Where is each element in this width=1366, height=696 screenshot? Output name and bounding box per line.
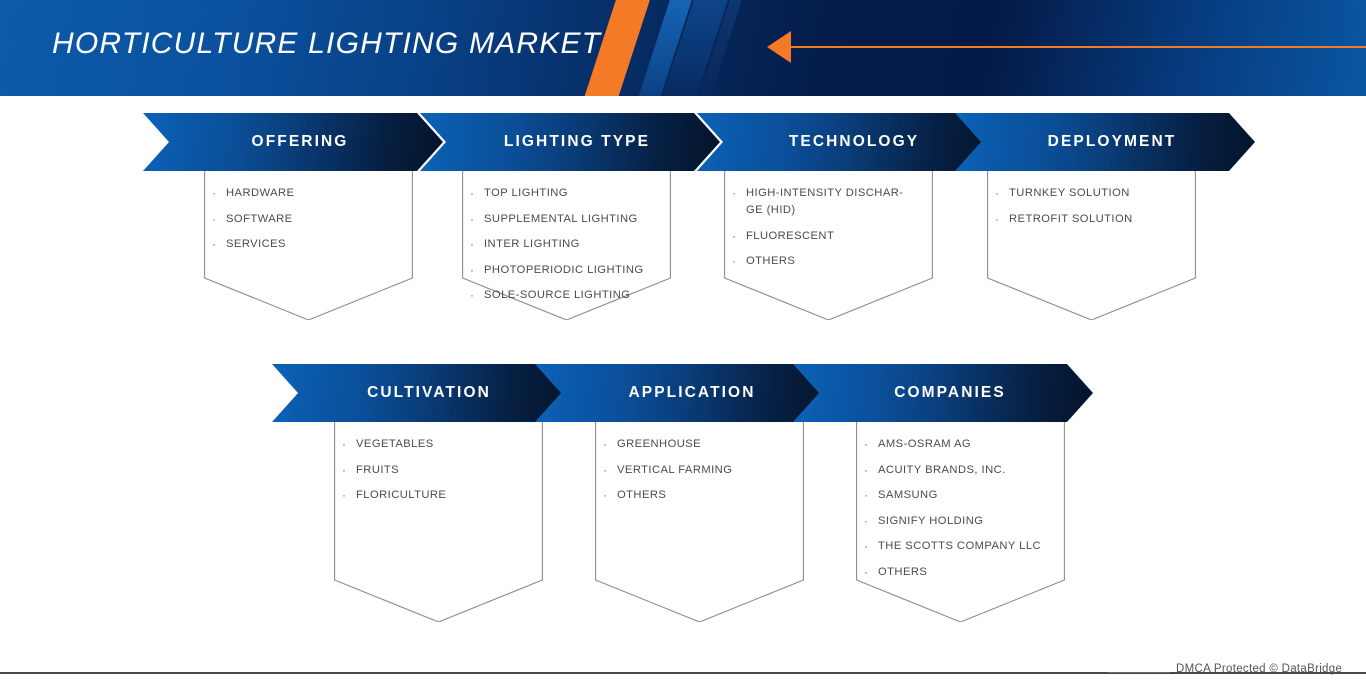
segment-banner-lighting-type[interactable]: LIGHTING TYPE — [420, 113, 720, 171]
segment-banner-technology[interactable]: TECHNOLOGY — [697, 113, 997, 171]
list-item: ·SAMSUNG — [863, 487, 1041, 504]
list-item: ·TOP LIGHTING — [469, 185, 644, 202]
list-item: ·THE SCOTTS COMPANY LLC — [863, 538, 1041, 555]
list-item: ·SERVICES — [211, 236, 294, 253]
segment-banner-label: OFFERING — [238, 133, 349, 151]
list-item-label: PHOTOPERIODIC LIGHTING — [484, 262, 644, 279]
header-banner: HORTICULTURE LIGHTING MARKET — [0, 0, 1366, 96]
list-item-label: VERTICAL FARMING — [617, 462, 732, 479]
segment-item-list: ·AMS-OSRAM AG·ACUITY BRANDS, INC.·SAMSUN… — [856, 422, 1053, 589]
list-item: ·SIGNIFY HOLDING — [863, 513, 1041, 530]
bullet-dot-icon: · — [994, 211, 1009, 228]
list-item-label: GREENHOUSE — [617, 436, 701, 453]
list-item: ·PHOTOPERIODIC LIGHTING — [469, 262, 644, 279]
list-item: ·ACUITY BRANDS, INC. — [863, 462, 1041, 479]
list-item-label: SERVICES — [226, 236, 286, 253]
list-item-label: TOP LIGHTING — [484, 185, 568, 202]
bullet-dot-icon: · — [731, 185, 746, 202]
list-item: ·OTHERS — [863, 564, 1041, 581]
list-item: ·RETROFIT SOLUTION — [994, 211, 1133, 228]
infographic-slide: HORTICULTURE LIGHTING MARKET ·HARDWARE·S… — [0, 0, 1366, 696]
bullet-dot-icon: · — [211, 185, 226, 202]
segment-content-box: ·GREENHOUSE·VERTICAL FARMING·OTHERS — [595, 422, 804, 622]
list-item: ·AMS-OSRAM AG — [863, 436, 1041, 453]
bullet-dot-icon: · — [994, 185, 1009, 202]
bullet-dot-icon: · — [341, 487, 356, 504]
list-item: ·FLUORESCENT — [731, 228, 903, 245]
list-item-label: FRUITS — [356, 462, 399, 479]
bullet-dot-icon: · — [469, 236, 484, 253]
list-item-label: RETROFIT SOLUTION — [1009, 211, 1133, 228]
list-item: ·SUPPLEMENTAL LIGHTING — [469, 211, 644, 228]
segment-banner-label: COMPANIES — [880, 384, 1006, 402]
bullet-dot-icon: · — [211, 211, 226, 228]
bullet-dot-icon: · — [863, 513, 878, 530]
segment-content-box: ·VEGETABLES·FRUITS·FLORICULTURE — [334, 422, 543, 622]
segment-banner-deployment[interactable]: DEPLOYMENT — [955, 113, 1255, 171]
list-item-label: SOLE-SOURCE LIGHTING — [484, 287, 630, 304]
list-item-label: SOFTWARE — [226, 211, 293, 228]
segment-item-list: ·TOP LIGHTING·SUPPLEMENTAL LIGHTING·INTE… — [462, 171, 656, 313]
list-item: ·OTHERS — [602, 487, 732, 504]
bullet-dot-icon: · — [469, 262, 484, 279]
segment-banner-offering[interactable]: OFFERING — [143, 113, 443, 171]
list-item: ·TURNKEY SOLUTION — [994, 185, 1133, 202]
list-item-label: FLUORESCENT — [746, 228, 834, 245]
bullet-dot-icon: · — [863, 436, 878, 453]
footer-accent-line — [1108, 672, 1170, 673]
segment-content-box: ·HIGH-INTENSITY DISCHAR- GE (HID)·FLUORE… — [724, 171, 933, 320]
list-item-label: SAMSUNG — [878, 487, 938, 504]
list-item-label: VEGETABLES — [356, 436, 434, 453]
bullet-dot-icon: · — [602, 487, 617, 504]
list-item-label: TURNKEY SOLUTION — [1009, 185, 1130, 202]
segment-banner-label: APPLICATION — [614, 384, 755, 402]
page-title: HORTICULTURE LIGHTING MARKET — [52, 27, 601, 61]
bullet-dot-icon: · — [863, 538, 878, 555]
segment-item-list: ·HARDWARE·SOFTWARE·SERVICES — [204, 171, 306, 262]
list-item-label: HIGH-INTENSITY DISCHAR- GE (HID) — [746, 185, 903, 219]
list-item: ·SOLE-SOURCE LIGHTING — [469, 287, 644, 304]
bullet-dot-icon: · — [211, 236, 226, 253]
bullet-dot-icon: · — [341, 462, 356, 479]
bullet-dot-icon: · — [341, 436, 356, 453]
arrow-rule — [790, 46, 1366, 48]
list-item-label: OTHERS — [878, 564, 927, 581]
segment-banner-label: TECHNOLOGY — [775, 133, 919, 151]
list-item-label: FLORICULTURE — [356, 487, 446, 504]
list-item: ·VERTICAL FARMING — [602, 462, 732, 479]
bullet-dot-icon: · — [469, 211, 484, 228]
copyright-notice: DMCA Protected © DataBridge — [1176, 663, 1342, 675]
list-item: ·SOFTWARE — [211, 211, 294, 228]
list-item: ·INTER LIGHTING — [469, 236, 644, 253]
list-item: ·HARDWARE — [211, 185, 294, 202]
list-item-label: OTHERS — [746, 253, 795, 270]
list-item-label: INTER LIGHTING — [484, 236, 580, 253]
segment-banner-label: LIGHTING TYPE — [490, 133, 650, 151]
segment-item-list: ·GREENHOUSE·VERTICAL FARMING·OTHERS — [595, 422, 744, 513]
bullet-dot-icon: · — [469, 185, 484, 202]
segment-content-box: ·TURNKEY SOLUTION·RETROFIT SOLUTION — [987, 171, 1196, 320]
list-item: ·FRUITS — [341, 462, 446, 479]
list-item-label: HARDWARE — [226, 185, 294, 202]
segment-item-list: ·TURNKEY SOLUTION·RETROFIT SOLUTION — [987, 171, 1145, 236]
segment-content-box: ·HARDWARE·SOFTWARE·SERVICES — [204, 171, 413, 320]
list-item-label: OTHERS — [617, 487, 666, 504]
segment-content-box: ·TOP LIGHTING·SUPPLEMENTAL LIGHTING·INTE… — [462, 171, 671, 320]
segment-item-list: ·VEGETABLES·FRUITS·FLORICULTURE — [334, 422, 458, 513]
bullet-dot-icon: · — [602, 462, 617, 479]
segment-banner-cultivation[interactable]: CULTIVATION — [272, 364, 572, 422]
segment-content-box: ·AMS-OSRAM AG·ACUITY BRANDS, INC.·SAMSUN… — [856, 422, 1065, 622]
list-item: ·FLORICULTURE — [341, 487, 446, 504]
left-arrow-icon — [767, 31, 791, 63]
list-item: ·VEGETABLES — [341, 436, 446, 453]
list-item-label: AMS-OSRAM AG — [878, 436, 971, 453]
bullet-dot-icon: · — [863, 462, 878, 479]
segment-banner-label: DEPLOYMENT — [1034, 133, 1177, 151]
segment-banner-companies[interactable]: COMPANIES — [793, 364, 1093, 422]
segment-banner-label: CULTIVATION — [353, 384, 491, 402]
list-item-label: THE SCOTTS COMPANY LLC — [878, 538, 1041, 555]
bullet-dot-icon: · — [863, 487, 878, 504]
list-item: ·HIGH-INTENSITY DISCHAR- GE (HID) — [731, 185, 903, 219]
list-item-label: ACUITY BRANDS, INC. — [878, 462, 1006, 479]
bullet-dot-icon: · — [469, 287, 484, 304]
list-item: ·GREENHOUSE — [602, 436, 732, 453]
list-item-label: SUPPLEMENTAL LIGHTING — [484, 211, 638, 228]
bullet-dot-icon: · — [602, 436, 617, 453]
list-item-label: SIGNIFY HOLDING — [878, 513, 983, 530]
bullet-dot-icon: · — [731, 228, 746, 245]
segment-item-list: ·HIGH-INTENSITY DISCHAR- GE (HID)·FLUORE… — [724, 171, 915, 279]
list-item: ·OTHERS — [731, 253, 903, 270]
bullet-dot-icon: · — [731, 253, 746, 270]
segment-banner-application[interactable]: APPLICATION — [535, 364, 835, 422]
bullet-dot-icon: · — [863, 564, 878, 581]
